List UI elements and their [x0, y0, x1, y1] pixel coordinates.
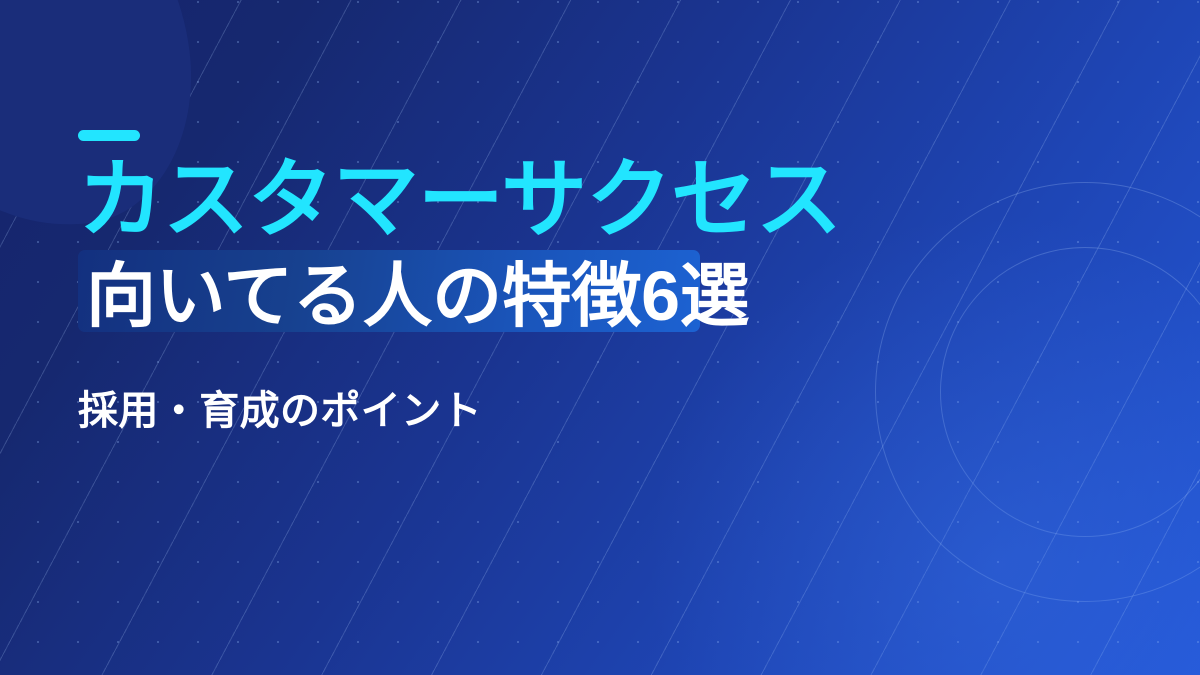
accent-rule: [78, 130, 140, 141]
title-line-2-container: 向いてる人の特徴6選: [78, 250, 1128, 332]
title-banner: カスタマーサクセス 向いてる人の特徴6選 採用・育成のポイント: [0, 0, 1200, 675]
banner-content: カスタマーサクセス 向いてる人の特徴6選 採用・育成のポイント: [78, 130, 1128, 436]
title-line-1: カスタマーサクセス: [78, 158, 1128, 242]
title-line-2: 向いてる人の特徴6選: [86, 249, 749, 331]
subtitle: 採用・育成のポイント: [78, 378, 1128, 436]
